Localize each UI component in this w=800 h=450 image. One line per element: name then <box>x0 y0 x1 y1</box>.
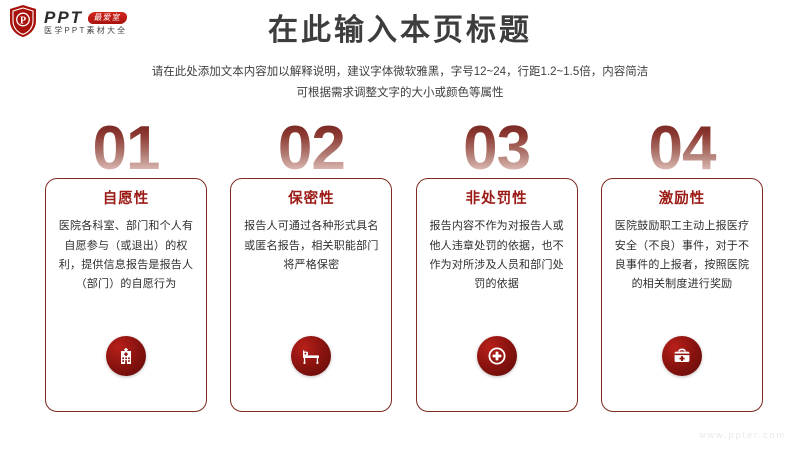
card-number-badge: 03 <box>411 118 583 180</box>
card-panel[interactable]: 非处罚性 报告内容不作为对报告人或他人违章处罚的依据，也不作为对所涉及人员和部门… <box>416 178 578 412</box>
card-title: 保密性 <box>241 191 381 208</box>
card-panel[interactable]: 激励性 医院鼓励职工主动上报医疗安全（不良）事件，对于不良事件的上报者，按照医院… <box>601 178 763 412</box>
page-subtitle: 请在此处添加文本内容加以解释说明，建议字体微软雅黑，字号12~24，行距1.2~… <box>0 62 800 105</box>
feature-card-04[interactable]: 04 激励性 医院鼓励职工主动上报医疗安全（不良）事件，对于不良事件的上报者，按… <box>596 118 768 418</box>
hospital-bed-icon <box>291 336 331 376</box>
card-title: 激励性 <box>612 191 752 208</box>
card-body-text: 报告内容不作为对报告人或他人违章处罚的依据，也不作为对所涉及人员和部门处罚的依据 <box>427 217 567 294</box>
feature-card-02[interactable]: 02 保密性 报告人可通过各种形式具名或匿名报告，相关职能部门将严格保密 <box>225 118 397 418</box>
medical-cross-circle-icon <box>477 336 517 376</box>
feature-card-list: 01 自愿性 医院各科室、部门和个人有自愿参与（或退出）的权利，提供信息报告是报… <box>40 118 768 418</box>
subtitle-line-2: 可根据需求调整文字的大小或颜色等属性 <box>0 83 800 104</box>
first-aid-kit-icon <box>662 336 702 376</box>
card-panel[interactable]: 自愿性 医院各科室、部门和个人有自愿参与（或退出）的权利，提供信息报告是报告人（… <box>45 178 207 412</box>
footer-watermark: www.ppter.com <box>699 430 786 440</box>
subtitle-line-1: 请在此处添加文本内容加以解释说明，建议字体微软雅黑，字号12~24，行距1.2~… <box>0 62 800 83</box>
hospital-building-icon <box>106 336 146 376</box>
card-body-text: 医院各科室、部门和个人有自愿参与（或退出）的权利，提供信息报告是报告人（部门）的… <box>56 217 196 294</box>
card-panel[interactable]: 保密性 报告人可通过各种形式具名或匿名报告，相关职能部门将严格保密 <box>230 178 392 412</box>
card-body-text: 医院鼓励职工主动上报医疗安全（不良）事件，对于不良事件的上报者，按照医院的相关制… <box>612 217 752 294</box>
card-body-text: 报告人可通过各种形式具名或匿名报告，相关职能部门将严格保密 <box>241 217 381 275</box>
feature-card-01[interactable]: 01 自愿性 医院各科室、部门和个人有自愿参与（或退出）的权利，提供信息报告是报… <box>40 118 212 418</box>
page-title: 在此输入本页标题 <box>0 14 800 49</box>
card-number-badge: 04 <box>596 118 768 180</box>
card-title: 自愿性 <box>56 191 196 208</box>
card-title: 非处罚性 <box>427 191 567 208</box>
card-number-badge: 02 <box>225 118 397 180</box>
feature-card-03[interactable]: 03 非处罚性 报告内容不作为对报告人或他人违章处罚的依据，也不作为对所涉及人员… <box>411 118 583 418</box>
card-number-badge: 01 <box>40 118 212 180</box>
